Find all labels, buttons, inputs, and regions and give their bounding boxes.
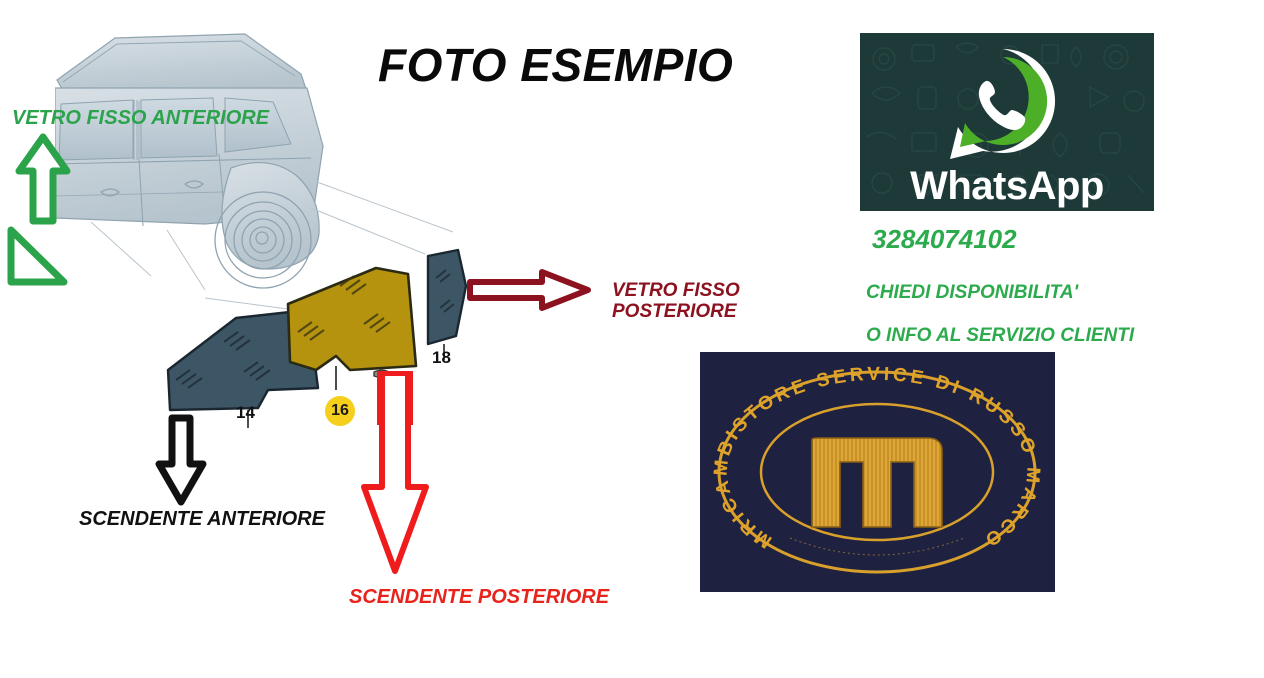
- up-arrow-green-icon: [15, 133, 71, 225]
- label-scendente-posteriore: SCENDENTE POSTERIORE: [349, 586, 609, 608]
- whatsapp-logo-icon: [942, 43, 1064, 165]
- logo-monogram: [812, 438, 942, 527]
- right-arrow-maroon-icon: [466, 268, 592, 312]
- whatsapp-banner[interactable]: WhatsApp: [860, 33, 1154, 211]
- part-number-16-badge: 16: [325, 396, 355, 426]
- label-scendente-anteriore: SCENDENTE ANTERIORE: [79, 508, 325, 530]
- triangle-green-icon: [6, 225, 68, 287]
- whatsapp-wordmark: WhatsApp: [860, 164, 1154, 209]
- whatsapp-cta-text: CHIEDI DISPONIBILITA' O INFO AL SERVIZIO…: [866, 261, 1134, 346]
- shop-logo-panel: MRICAMBISTORE SERVICE DI RUSSO MARCO: [700, 352, 1055, 592]
- part-number-14: 14: [236, 403, 255, 423]
- whatsapp-phone-number[interactable]: 3284074102: [872, 224, 1017, 255]
- cta-line-2: O INFO AL SERVIZIO CLIENTI: [866, 325, 1134, 346]
- part-number-18: 18: [432, 348, 451, 368]
- shop-logo-graphic: MRICAMBISTORE SERVICE DI RUSSO MARCO: [700, 352, 1055, 592]
- part-18-shape: [428, 250, 466, 360]
- screenshot-canvas: 14 16 17 18 FOTO ESEMPIO VETRO FISSO ANT…: [0, 0, 1264, 678]
- cta-line-1: CHIEDI DISPONIBILITA': [866, 282, 1078, 303]
- label-vetro-fisso-anteriore: VETRO FISSO ANTERIORE: [12, 107, 269, 129]
- down-arrow-black-icon: [155, 414, 207, 506]
- down-arrow-red-icon: [360, 371, 430, 579]
- page-title: FOTO ESEMPIO: [378, 38, 733, 92]
- label-vetro-fisso-posteriore: VETRO FISSO POSTERIORE: [612, 280, 740, 323]
